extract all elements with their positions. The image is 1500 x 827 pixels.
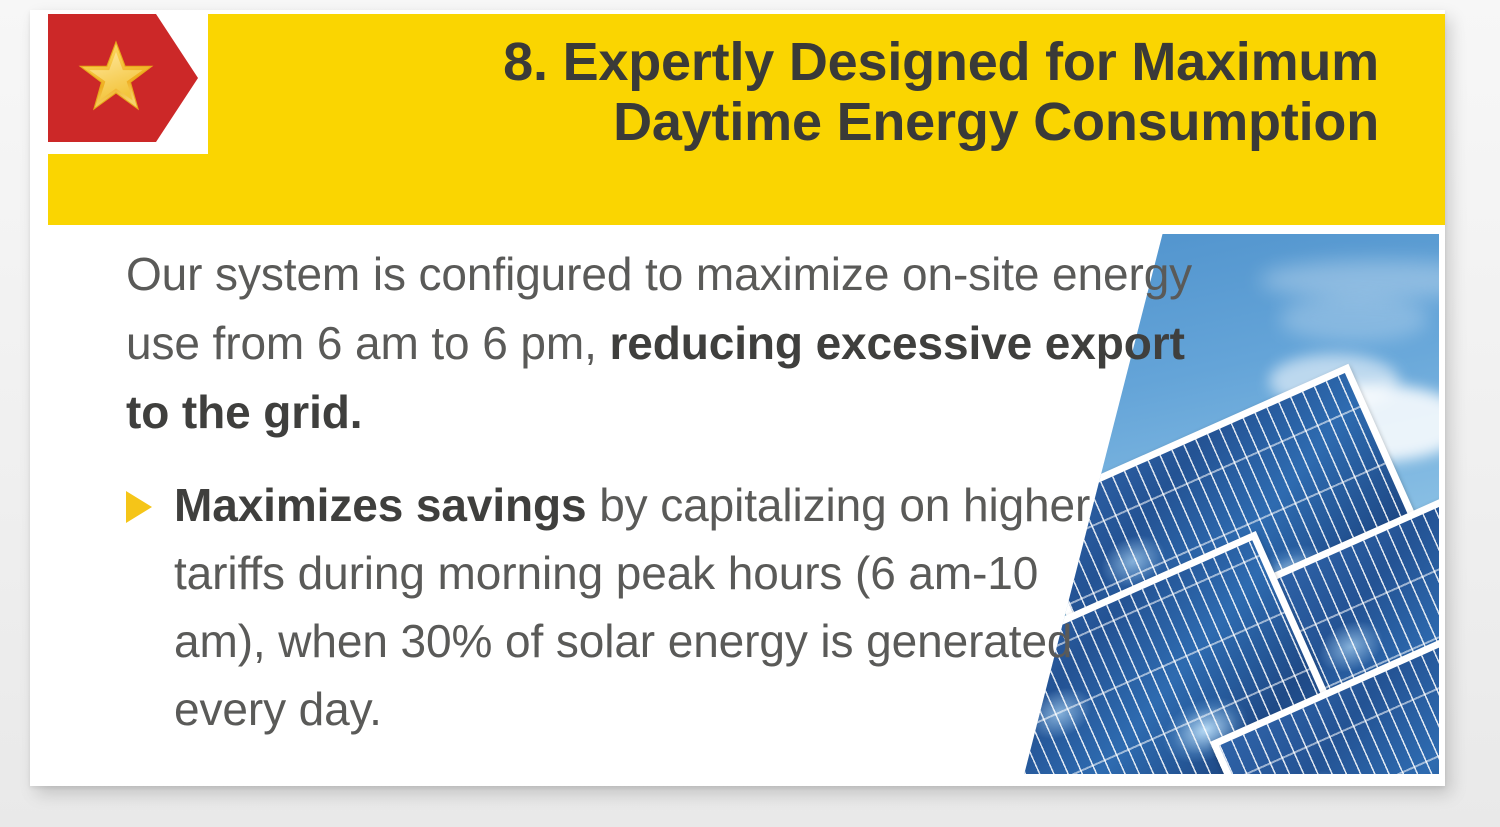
card-title: 8. Expertly Designed for Maximum Daytime… <box>210 32 1415 153</box>
card-title-line-1: 8. Expertly Designed for Maximum <box>503 32 1379 92</box>
bullet-bold-lead: Maximizes savings <box>174 479 587 531</box>
info-card: 8. Expertly Designed for Maximum Daytime… <box>30 10 1445 786</box>
intro-paragraph: Our system is configured to maximize on-… <box>126 240 1206 447</box>
cloud-wisp-upper <box>1279 296 1429 342</box>
bullet-item: Maximizes savings by capitalizing on hig… <box>126 471 1206 743</box>
triangle-bullet-icon <box>126 491 152 523</box>
card-title-line-2: Daytime Energy Consumption <box>210 92 1379 152</box>
number-badge <box>48 14 208 154</box>
bullet-text: Maximizes savings by capitalizing on hig… <box>174 471 1114 743</box>
card-body: Our system is configured to maximize on-… <box>126 240 1206 743</box>
star-icon <box>78 39 154 115</box>
